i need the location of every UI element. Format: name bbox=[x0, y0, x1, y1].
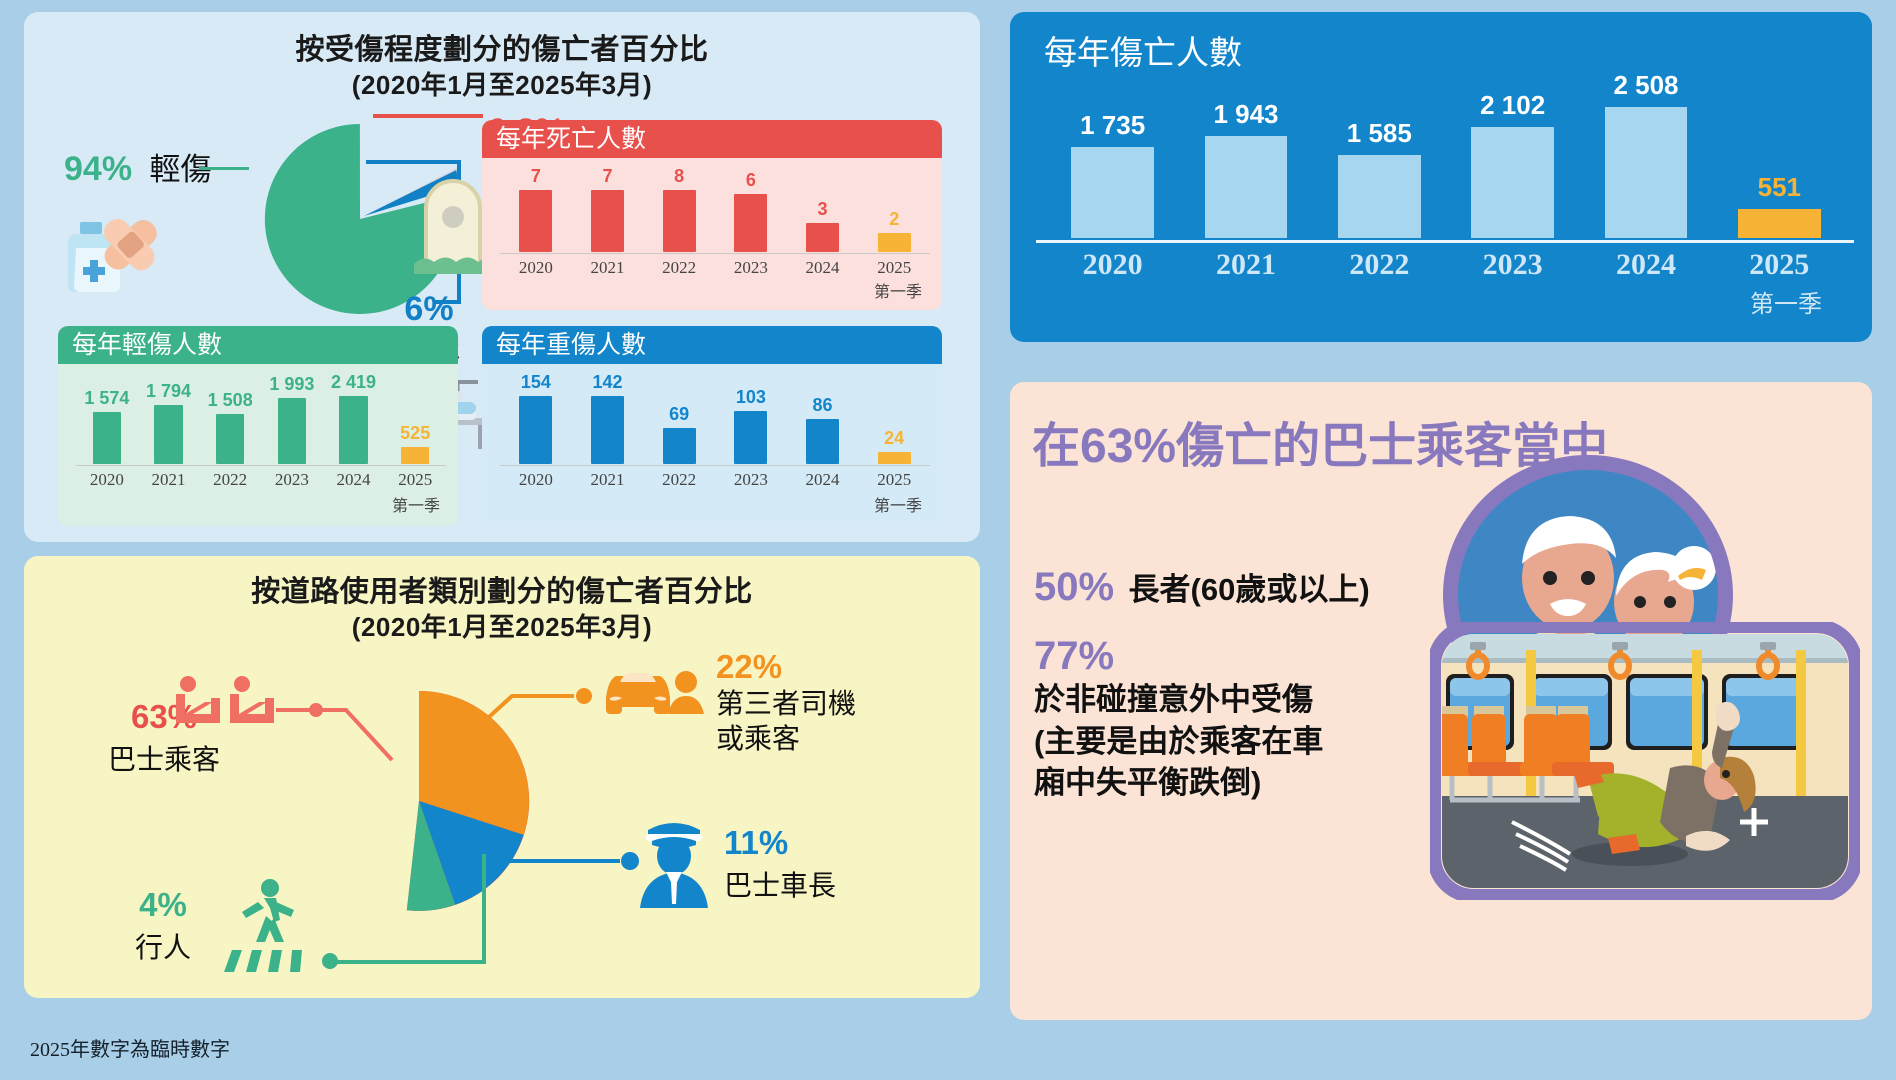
axis-tick-label: 2022 bbox=[643, 258, 715, 278]
axis-tick-label: 2024 bbox=[787, 258, 859, 278]
annual-casualties-plot: 1 7351 9431 5852 1022 508551 bbox=[1046, 70, 1846, 238]
bar bbox=[591, 190, 624, 252]
panel-bus-passenger-breakdown: 在63%傷亡的巴士乘客當中 50% 長者(60歲或以上) bbox=[1010, 382, 1872, 1020]
axis-tick-label: 2023 bbox=[715, 470, 787, 490]
bar-column: 86 bbox=[787, 372, 859, 464]
bar-value-label: 1 585 bbox=[1347, 118, 1412, 149]
bar-value-label: 142 bbox=[592, 372, 622, 393]
axis-tick-label: 2025 bbox=[1713, 248, 1846, 282]
bar-column: 154 bbox=[500, 372, 572, 464]
bar-column: 1 735 bbox=[1046, 70, 1179, 238]
bar-column: 1 794 bbox=[138, 372, 200, 464]
annual-slight-quarter-note: 第一季 bbox=[386, 492, 446, 516]
bar bbox=[154, 405, 182, 464]
third-party-leader-line bbox=[464, 686, 604, 746]
bandage-bottle-icon bbox=[62, 208, 172, 298]
bar-column: 525 bbox=[384, 372, 446, 464]
axis-tick-label: 2022 bbox=[643, 470, 715, 490]
axis-tick-label: 2021 bbox=[138, 470, 200, 490]
infographic-root: 按受傷程度劃分的傷亡者百分比 (2020年1月至2025年3月) 94% 輕傷 … bbox=[0, 0, 1896, 1080]
annual-casualties-axis bbox=[1036, 240, 1854, 243]
bar bbox=[663, 428, 696, 464]
legend-third-party: 22% 第三者司機 或乘客 bbox=[716, 648, 916, 756]
axis-tick-label: 2021 bbox=[1179, 248, 1312, 282]
bar-value-label: 1 794 bbox=[146, 381, 191, 402]
severity-label-slight: 94% 輕傷 bbox=[64, 144, 212, 189]
third-party-name-line1: 第三者司機 bbox=[716, 686, 916, 721]
bar-value-label: 2 508 bbox=[1613, 70, 1678, 101]
roaduser-panel-title: 按道路使用者類別劃分的傷亡者百分比 (2020年1月至2025年3月) bbox=[24, 574, 980, 644]
roaduser-title-line1: 按道路使用者類別劃分的傷亡者百分比 bbox=[24, 574, 980, 611]
bar-column: 1 993 bbox=[261, 372, 323, 464]
bar-column: 1 585 bbox=[1313, 70, 1446, 238]
bar-value-label: 2 102 bbox=[1480, 90, 1545, 121]
axis-tick-label: 2022 bbox=[199, 470, 261, 490]
bar-value-label: 6 bbox=[746, 170, 756, 191]
panel-casualties-by-severity: 按受傷程度劃分的傷亡者百分比 (2020年1月至2025年3月) 94% 輕傷 … bbox=[24, 12, 980, 542]
axis-tick-label: 2024 bbox=[1579, 248, 1712, 282]
bar bbox=[1205, 136, 1288, 238]
bar-value-label: 3 bbox=[818, 199, 828, 220]
stat-elderly: 50% 長者(60歲或以上) bbox=[1034, 564, 1370, 610]
bus-captain-pct: 11% bbox=[724, 824, 924, 862]
axis-tick-label: 2025 bbox=[858, 470, 930, 490]
bar bbox=[93, 412, 121, 464]
bar-value-label: 1 735 bbox=[1080, 110, 1145, 141]
severity-panel-title: 按受傷程度劃分的傷亡者百分比 (2020年1月至2025年3月) bbox=[24, 32, 980, 102]
annual-serious-axis bbox=[500, 465, 930, 466]
panel-casualties-by-roaduser: 按道路使用者類別劃分的傷亡者百分比 (2020年1月至2025年3月) 63% … bbox=[24, 556, 980, 998]
bar-value-label: 154 bbox=[521, 372, 551, 393]
elderly-pct: 50% bbox=[1034, 565, 1114, 609]
bar-column: 2 508 bbox=[1579, 70, 1712, 238]
bar bbox=[519, 190, 552, 252]
axis-tick-label: 2024 bbox=[323, 470, 385, 490]
bar-column: 2 102 bbox=[1446, 70, 1579, 238]
bar-value-label: 2 419 bbox=[331, 372, 376, 393]
axis-tick-label: 2022 bbox=[1313, 248, 1446, 282]
bar bbox=[734, 194, 767, 253]
annual-serious-quarter-note: 第一季 bbox=[868, 492, 928, 516]
annual-deaths-ticks: 202020212022202320242025 bbox=[500, 258, 930, 278]
axis-tick-label: 2020 bbox=[76, 470, 138, 490]
annual-casualties-ticks: 202020212022202320242025 bbox=[1046, 248, 1846, 282]
bar bbox=[1738, 209, 1821, 238]
axis-tick-label: 2023 bbox=[715, 258, 787, 278]
bus-captain-name: 巴士車長 bbox=[724, 864, 924, 904]
bar-column: 142 bbox=[572, 372, 644, 464]
axis-tick-label: 2025 bbox=[858, 258, 930, 278]
bar-column: 103 bbox=[715, 372, 787, 464]
bar-value-label: 7 bbox=[603, 166, 613, 187]
annual-serious-ticks: 202020212022202320242025 bbox=[500, 470, 930, 490]
bar bbox=[878, 233, 911, 253]
bar-value-label: 103 bbox=[736, 387, 766, 408]
annual-deaths-quarter-note: 第一季 bbox=[868, 278, 928, 302]
passenger-falling-in-bus-illustration bbox=[1430, 622, 1860, 900]
bar-value-label: 69 bbox=[669, 404, 689, 425]
bar bbox=[806, 223, 839, 252]
pedestrian-pct: 4% bbox=[98, 886, 228, 924]
axis-tick-label: 2023 bbox=[261, 470, 323, 490]
axis-tick-label: 2024 bbox=[787, 470, 859, 490]
car-and-person-icon bbox=[598, 662, 708, 724]
axis-tick-label: 2023 bbox=[1446, 248, 1579, 282]
bar-column: 24 bbox=[858, 372, 930, 464]
bar-column: 2 419 bbox=[323, 372, 385, 464]
card-annual-deaths-title: 每年死亡人數 bbox=[482, 120, 942, 158]
slight-pct: 94% bbox=[64, 150, 132, 188]
bar-value-label: 1 508 bbox=[208, 390, 253, 411]
bar-column: 1 508 bbox=[199, 372, 261, 464]
roaduser-title-line2: (2020年1月至2025年3月) bbox=[24, 611, 980, 644]
legend-pedestrian: 4% 行人 bbox=[98, 886, 228, 966]
bar-column: 6 bbox=[715, 166, 787, 252]
bar bbox=[1471, 127, 1554, 238]
bar bbox=[734, 411, 767, 465]
bar-value-label: 1 943 bbox=[1213, 99, 1278, 130]
bar-value-label: 1 574 bbox=[84, 388, 129, 409]
bar-value-label: 7 bbox=[531, 166, 541, 187]
bar bbox=[806, 419, 839, 464]
bus-passenger-name: 巴士乘客 bbox=[94, 738, 234, 778]
bar-value-label: 8 bbox=[674, 166, 684, 187]
noncollision-pct: 77% bbox=[1034, 634, 1323, 679]
bar bbox=[401, 447, 429, 464]
annual-slight-plot: 1 5741 7941 5081 9932 419525 bbox=[76, 372, 446, 464]
elderly-text: 長者(60歲或以上) bbox=[1129, 572, 1370, 607]
bar-value-label: 1 993 bbox=[269, 374, 314, 395]
bar bbox=[663, 190, 696, 252]
axis-tick-label: 2020 bbox=[1046, 248, 1179, 282]
serious-pct: 6% bbox=[384, 290, 474, 329]
card-annual-slight-injuries: 每年輕傷人數 1 5741 7941 5081 9932 419525 2020… bbox=[58, 326, 458, 526]
third-party-name-line2: 或乘客 bbox=[716, 721, 916, 756]
card-annual-deaths: 每年死亡人數 778632 202020212022202320242025 第… bbox=[482, 120, 942, 310]
axis-tick-label: 2021 bbox=[572, 258, 644, 278]
legend-bus-captain: 11% 巴士車長 bbox=[724, 824, 924, 904]
annual-serious-plot: 154142691038624 bbox=[500, 372, 930, 464]
pedestrian-crossing-icon bbox=[214, 876, 344, 976]
bar-value-label: 24 bbox=[884, 428, 904, 449]
bar-column: 1 943 bbox=[1179, 70, 1312, 238]
axis-tick-label: 2025 bbox=[384, 470, 446, 490]
bar-column: 69 bbox=[643, 372, 715, 464]
pedestrian-leader-line bbox=[334, 846, 514, 976]
bar-column: 551 bbox=[1713, 70, 1846, 238]
bar bbox=[878, 452, 911, 464]
bar-column: 8 bbox=[643, 166, 715, 252]
death-leader-line bbox=[373, 114, 483, 118]
noncollision-text-line3: 廂中失平衡跌倒) bbox=[1034, 762, 1323, 804]
bar bbox=[1338, 155, 1421, 238]
bar-column: 3 bbox=[787, 166, 859, 252]
panel-annual-casualties: 每年傷亡人數 1 7351 9431 5852 1022 508551 2020… bbox=[1010, 12, 1872, 342]
card-annual-serious-title: 每年重傷人數 bbox=[482, 326, 942, 364]
axis-tick-label: 2021 bbox=[572, 470, 644, 490]
pedestrian-name: 行人 bbox=[98, 926, 228, 966]
bar-column: 7 bbox=[500, 166, 572, 252]
bar bbox=[1071, 147, 1154, 238]
card-annual-serious-injuries: 每年重傷人數 154142691038624 20202021202220232… bbox=[482, 326, 942, 526]
severity-title-line2: (2020年1月至2025年3月) bbox=[24, 69, 980, 102]
card-annual-slight-title: 每年輕傷人數 bbox=[58, 326, 458, 364]
bar-column: 7 bbox=[572, 166, 644, 252]
bar-value-label: 525 bbox=[400, 423, 430, 444]
bar bbox=[519, 396, 552, 464]
bar-value-label: 2 bbox=[889, 209, 899, 230]
bar bbox=[591, 396, 624, 464]
annual-deaths-axis bbox=[500, 253, 930, 254]
axis-tick-label: 2020 bbox=[500, 258, 572, 278]
bar-value-label: 551 bbox=[1758, 172, 1801, 203]
stat-noncollision: 77% 於非碰撞意外中受傷 (主要是由於乘客在車 廂中失平衡跌倒) bbox=[1034, 634, 1323, 804]
annual-casualties-quarter-note: 第一季 bbox=[1726, 284, 1846, 319]
bus-captain-icon bbox=[634, 812, 714, 912]
third-party-pct: 22% bbox=[716, 648, 916, 686]
annual-deaths-plot: 778632 bbox=[500, 166, 930, 252]
bar-column: 1 574 bbox=[76, 372, 138, 464]
annual-slight-axis bbox=[76, 465, 446, 466]
severity-title-line1: 按受傷程度劃分的傷亡者百分比 bbox=[24, 32, 980, 69]
bar bbox=[278, 398, 306, 464]
bar bbox=[1605, 107, 1688, 238]
noncollision-text-line2: (主要是由於乘客在車 bbox=[1034, 721, 1323, 763]
bar-value-label: 86 bbox=[813, 395, 833, 416]
bar bbox=[216, 414, 244, 464]
bar bbox=[339, 396, 367, 464]
bus-passenger-leader-line bbox=[274, 704, 414, 774]
bar-column: 2 bbox=[858, 166, 930, 252]
noncollision-text-line1: 於非碰撞意外中受傷 bbox=[1034, 679, 1323, 721]
axis-tick-label: 2020 bbox=[500, 470, 572, 490]
casualties-panel-title: 每年傷亡人數 bbox=[1044, 26, 1242, 74]
footnote: 2025年數字為臨時數字 bbox=[30, 1033, 230, 1062]
slight-leader-line bbox=[199, 167, 249, 170]
annual-slight-ticks: 202020212022202320242025 bbox=[76, 470, 446, 490]
